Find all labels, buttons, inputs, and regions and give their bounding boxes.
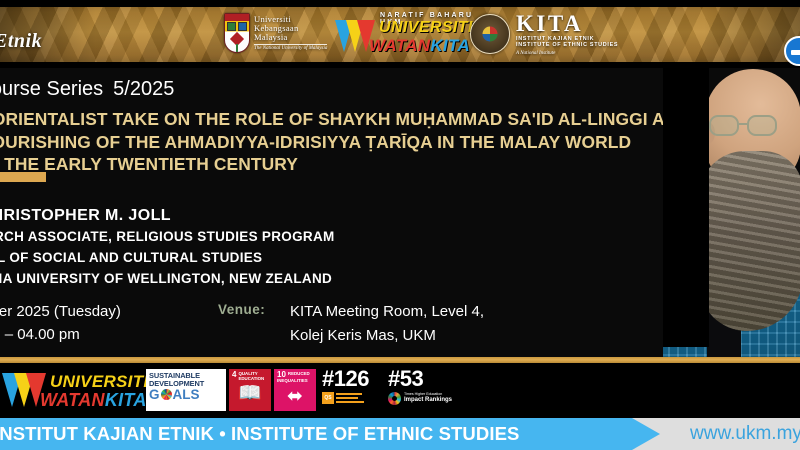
speaker-role-2: SCHOOL OF SOCIAL AND CULTURAL STUDIES [0,248,335,267]
date-block: 28 October 2025 (Tuesday) 02.30 pm – 04.… [0,301,121,346]
ukm-line-3: Malaysia [254,33,327,42]
speaker-role-1: RESEARCH ASSOCIATE, RELIGIOUS STUDIES PR… [0,227,335,246]
sdg-color-wheel-icon [161,389,172,400]
sdg-goals-g: G [149,388,160,402]
series-number: 5/2025 [113,78,174,100]
banner-bottom-edge [0,62,800,68]
footer-word-kita: KITA [105,390,147,410]
sdg4-number: 4 [232,371,236,379]
title-line-2: THE FLOURISHING OF THE AHMADIYYA-IDRISIY… [0,131,690,154]
speaker-role-3: VICTORIA UNIVERSITY OF WELLINGTON, NEW Z… [0,269,335,288]
portrait-left-mask [663,67,709,347]
glasses-icon [709,115,797,137]
banner-logo-row: Universiti Kebangsaan Malaysia The Natio… [0,8,800,60]
kita-line-3: INSTITUTE OF ETHNIC STUDIES [516,43,618,48]
bottom-bar: INSTITUT KAJIAN ETNIK • INSTITUTE OF ETH… [0,418,800,450]
watan-word-kita: KITA [430,36,470,55]
qs-ranking-badge: #126 QS [322,368,384,412]
portrait-beard [699,151,800,331]
banner-top-edge [0,0,800,7]
title-line-3: DURING THE EARLY TWENTIETH CENTURY [0,153,690,176]
kita-acronym: KITA [516,12,618,35]
sdg-goal-10-tile: 10 REDUCED INEQUALITIES ⬌ [274,369,316,411]
title-line-1: A SUFI ORIENTALIST TAKE ON THE ROLE OF S… [0,108,690,131]
kita-logo: KITA INSTITUT KAJIAN ETNIK INSTITUTE OF … [470,12,618,56]
ukm-crest-icon [224,13,250,53]
watan-word-watan: WATAN [369,36,430,55]
series-label: Discourse Series [0,78,103,100]
footer-logo-strip: UNIVERSITI WATANKITA SUSTAINABLE DEVELOP… [0,363,800,418]
impact-ranking-badge: #53 Times Higher Education Impact Rankin… [388,368,462,412]
universiti-watan-kita-logo: NARATIF BAHARU UKM UNIVERSITI WATANKITA [333,12,483,56]
equal-arrows-icon: ⬌ [277,384,313,410]
series-line: Discourse Series5/2025 [0,78,174,101]
sdg-goals-als: ALS [173,388,200,402]
event-date: 28 October 2025 (Tuesday) [0,301,121,324]
impact-caption-b: Impact Rankings [404,397,452,403]
sdg-goals-word: GALS [149,388,223,402]
event-poster: Etnik Universiti Kebangsaan Malaysia The… [0,0,800,450]
impact-rankings-icon [388,392,401,405]
watan-word-universiti: UNIVERSITI [379,19,473,37]
footer-word-watan: WATAN [40,390,105,410]
qs-logo-icon: QS [322,392,334,404]
venue-label: Venue: [218,302,265,317]
gold-divider-bar [0,172,46,182]
ukm-crest-logo: Universiti Kebangsaan Malaysia The Natio… [224,13,327,53]
speaker-name: DR. CHRISTOPHER M. JOLL [0,207,335,225]
sdg-line-2: DEVELOPMENT [149,380,223,388]
qs-caption-lines [336,393,364,403]
page-title: A SUFI ORIENTALIST TAKE ON THE ROLE OF S… [0,108,690,176]
sdg-logo: SUSTAINABLE DEVELOPMENT GALS [146,369,226,411]
website-url[interactable]: www.ukm.my/kita [690,418,800,450]
qs-rank: #126 [322,368,384,390]
watan-word-watan-kita: WATANKITA [369,36,470,56]
venue-line-1: KITA Meeting Room, Level 4, [290,300,484,324]
speaker-block: DR. CHRISTOPHER M. JOLL RESEARCH ASSOCIA… [0,207,335,288]
sdg4-label: QUALITY EDUCATION [232,371,268,381]
institute-name: INSTITUT KAJIAN ETNIK • INSTITUTE OF ETH… [0,423,519,445]
institute-banner: INSTITUT KAJIAN ETNIK • INSTITUTE OF ETH… [0,418,660,450]
footer-word-universiti: UNIVERSITI [50,372,148,392]
impact-rank: #53 [388,368,462,390]
ukm-line-4: The National University of Malaysia [254,44,327,51]
kita-seal-icon [470,14,510,54]
sdg-goal-4-tile: 4 QUALITY EDUCATION 📖 [229,369,271,411]
footer-watan-kita-logo: UNIVERSITI WATANKITA [2,369,150,411]
venue-line-2: Kolej Keris Mas, UKM [290,324,484,348]
kita-line-4: A National Institute [516,51,618,56]
footer-word-watan-kita: WATANKITA [40,390,147,411]
venue-value: KITA Meeting Room, Level 4, Kolej Keris … [290,300,484,347]
book-icon: 📖 [232,381,268,407]
event-time: 02.30 pm – 04.00 pm [0,324,121,347]
